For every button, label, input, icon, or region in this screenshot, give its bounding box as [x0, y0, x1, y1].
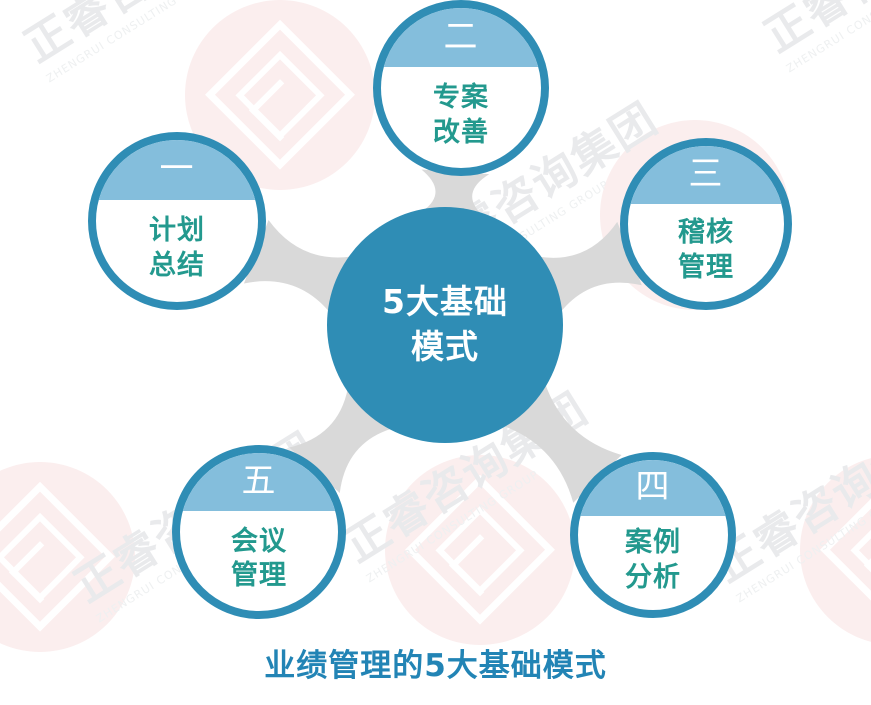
node-cap-5: 五: [180, 453, 338, 511]
node-label-5-line-2: 管理: [231, 559, 287, 594]
center-hub-line-2: 模式: [411, 325, 479, 370]
node-body-4: 案例 分析: [578, 516, 728, 611]
node-label-3-line-1: 稽核: [678, 216, 734, 251]
node-cap-3: 三: [628, 146, 784, 204]
node-number-4: 四: [636, 470, 671, 504]
node-number-2: 二: [444, 20, 479, 54]
node-cap-1: 一: [96, 140, 258, 200]
node-body-3: 稽核 管理: [628, 204, 784, 302]
node-number-5: 五: [242, 464, 277, 498]
node-label-1-line-1: 计划: [149, 214, 205, 249]
node-label-1-line-2: 总结: [149, 249, 205, 284]
node-number-3: 三: [689, 157, 724, 191]
diagram-canvas: 正睿咨询集团ZHENGRUI CONSULTING GROUP正睿咨询集团ZHE…: [0, 0, 871, 705]
node-body-2: 专案 改善: [381, 67, 541, 168]
node-cap-4: 四: [578, 460, 728, 516]
center-hub-line-1: 5大基础: [382, 280, 508, 325]
node-body-1: 计划 总结: [96, 200, 258, 302]
node-label-5-line-1: 会议: [231, 525, 287, 560]
node-number-1: 一: [160, 152, 195, 186]
diagram-caption: 业绩管理的5大基础模式: [0, 640, 871, 685]
node-label-2-line-1: 专案: [433, 81, 489, 116]
node-circle-1[interactable]: 一 计划 总结: [88, 132, 266, 310]
node-cap-2: 二: [381, 8, 541, 67]
node-circle-5[interactable]: 五 会议 管理: [172, 445, 346, 619]
node-label-4-line-2: 分析: [625, 561, 681, 596]
node-circle-4[interactable]: 四 案例 分析: [570, 452, 736, 618]
node-body-5: 会议 管理: [180, 511, 338, 611]
node-label-3-line-2: 管理: [678, 251, 734, 286]
node-circle-2[interactable]: 二 专案 改善: [373, 0, 549, 176]
node-circle-3[interactable]: 三 稽核 管理: [620, 138, 792, 310]
center-hub[interactable]: 5大基础 模式: [327, 207, 563, 443]
node-label-2-line-2: 改善: [433, 116, 489, 151]
node-label-4-line-1: 案例: [625, 526, 681, 561]
